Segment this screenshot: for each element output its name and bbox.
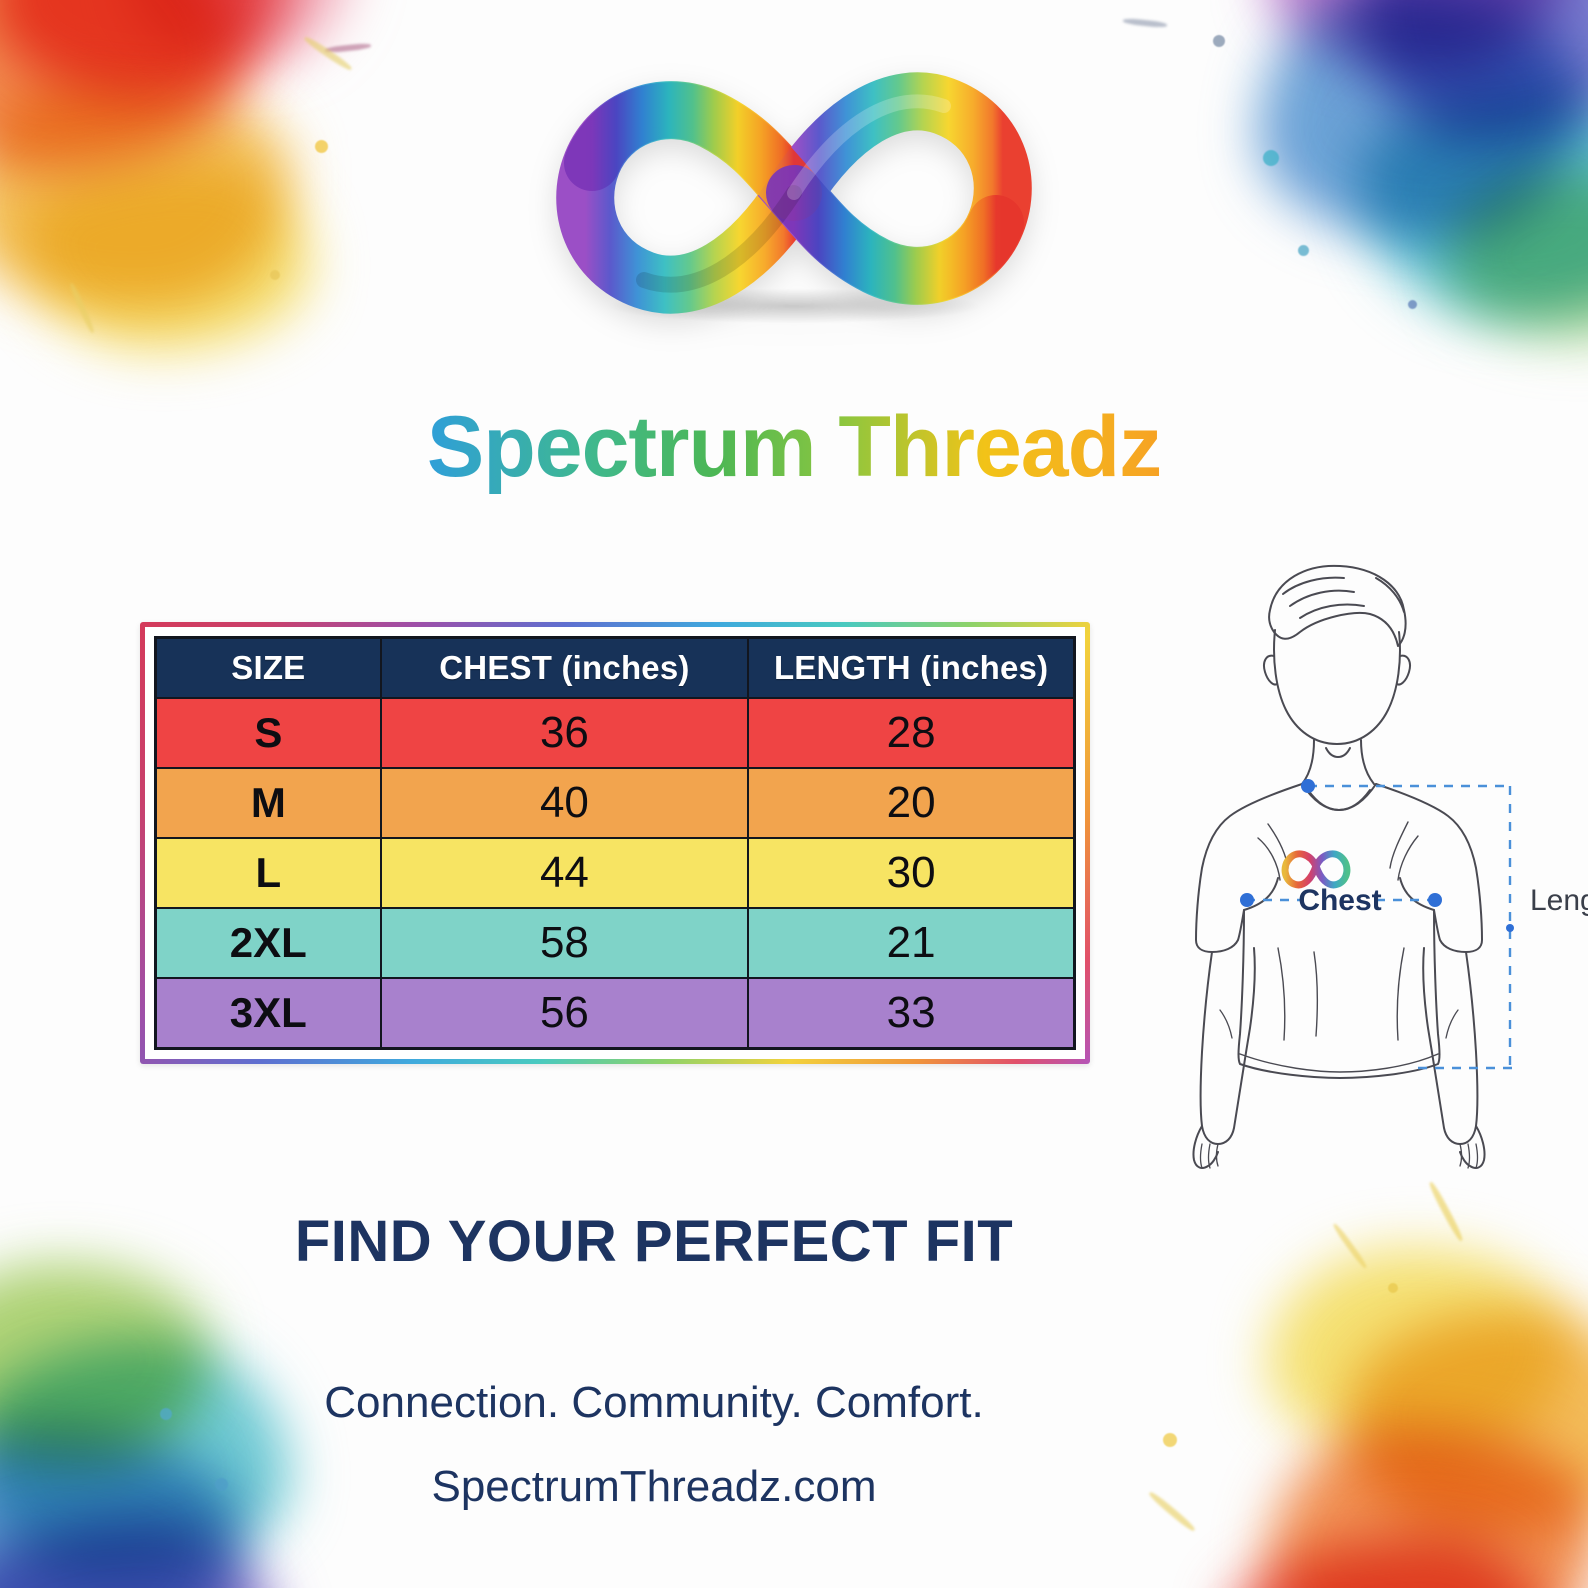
chest-right-marker-dot (1428, 893, 1442, 907)
cell-size: 2XL (156, 908, 381, 978)
cell-chest: 56 (381, 978, 749, 1049)
chest-measurement-label: Chest (1298, 884, 1381, 917)
shirt-chest-logo-icon (1285, 854, 1347, 885)
website-url: SpectrumThreadz.com (120, 1462, 1188, 1512)
cell-length: 21 (748, 908, 1074, 978)
cell-length: 33 (748, 978, 1074, 1049)
column-header-length: LENGTH (inches) (748, 638, 1074, 699)
table-row: 3XL 56 33 (156, 978, 1075, 1049)
cell-chest: 44 (381, 838, 749, 908)
brand-logo (0, 48, 1588, 338)
table-row: 2XL 58 21 (156, 908, 1075, 978)
measurement-guides (1240, 779, 1514, 1068)
length-midpoint-dot (1506, 924, 1514, 932)
cell-chest: 58 (381, 908, 749, 978)
cell-length: 28 (748, 698, 1074, 768)
cell-size: M (156, 768, 381, 838)
watercolor-splash-bottom-right (1118, 1188, 1588, 1588)
tshirt-model-illustration: Chest Length (1118, 548, 1588, 1178)
headline-find-your-perfect-fit: FIND YOUR PERFECT FIT (120, 1208, 1188, 1275)
cell-size: S (156, 698, 381, 768)
size-chart-poster: Spectrum Threadz SIZE CHEST (inches) LEN… (0, 0, 1588, 1588)
column-header-chest: CHEST (inches) (381, 638, 749, 699)
tagline: Connection. Community. Comfort. (120, 1378, 1188, 1428)
cell-size: 3XL (156, 978, 381, 1049)
brand-title: Spectrum Threadz (0, 398, 1588, 497)
cell-length: 20 (748, 768, 1074, 838)
size-chart-table: SIZE CHEST (inches) LENGTH (inches) S 36… (154, 636, 1076, 1050)
cell-size: L (156, 838, 381, 908)
measurement-diagram: Chest Length (1118, 548, 1588, 1178)
cell-chest: 40 (381, 768, 749, 838)
cell-chest: 36 (381, 698, 749, 768)
cell-length: 30 (748, 838, 1074, 908)
chest-left-marker-dot (1240, 893, 1254, 907)
shoulder-marker-dot (1301, 779, 1315, 793)
rainbow-infinity-icon (544, 48, 1044, 338)
table-row: S 36 28 (156, 698, 1075, 768)
length-measurement-label: Length (1530, 884, 1588, 917)
table-row: M 40 20 (156, 768, 1075, 838)
table-row: L 44 30 (156, 838, 1075, 908)
size-table-frame: SIZE CHEST (inches) LENGTH (inches) S 36… (140, 622, 1090, 1064)
table-header-row: SIZE CHEST (inches) LENGTH (inches) (156, 638, 1075, 699)
column-header-size: SIZE (156, 638, 381, 699)
